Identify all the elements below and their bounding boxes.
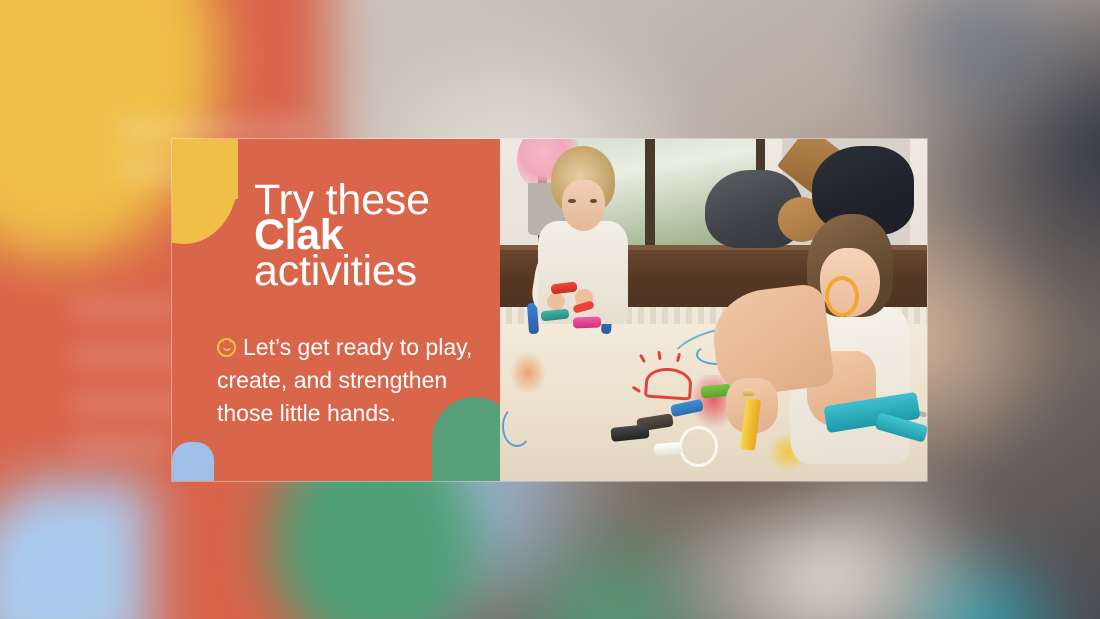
- blue-quarter-circle-shape: [172, 442, 214, 481]
- title-line-3: activities: [254, 254, 500, 289]
- body-text: Let’s get ready to play, create, and str…: [217, 334, 472, 427]
- photo-orange-scribble: [509, 351, 547, 395]
- photo-white-scribble: [679, 426, 717, 467]
- page-title: Try these Clak activities: [254, 183, 500, 289]
- smiley-face-icon: [217, 338, 236, 357]
- photo-blue-scribble: [502, 406, 532, 447]
- background-text-ghost: [70, 437, 170, 453]
- photo-toddler-eye: [568, 199, 575, 203]
- children-drawing-photo: [500, 139, 927, 481]
- body-paragraph: Let’s get ready to play, create, and str…: [217, 331, 487, 431]
- background-blue-blob: [0, 480, 150, 619]
- photo-pink-marker: [572, 316, 600, 328]
- photo-wedding-ring: [743, 389, 754, 397]
- photo-toddler-hand: [547, 293, 565, 310]
- photo-pacifier: [825, 276, 859, 317]
- promo-card: Try these Clak activities Let’s get read…: [172, 139, 927, 481]
- background-text-ghost: [70, 300, 180, 316]
- text-panel: Try these Clak activities Let’s get read…: [172, 139, 500, 481]
- photo-toddler-face: [562, 180, 605, 231]
- photo-window-mullion: [645, 139, 655, 262]
